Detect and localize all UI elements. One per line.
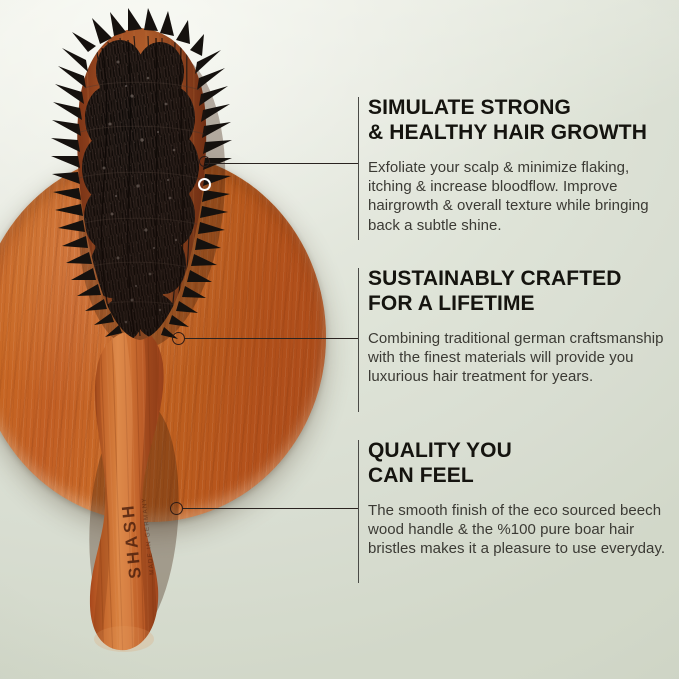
feature-heading-2-line1: SUSTAINABLY CRAFTED xyxy=(368,267,622,290)
infographic-canvas: SHASH MADE IN GERMANY xyxy=(0,0,679,679)
feature-heading-2-line2: FOR A LIFETIME xyxy=(368,292,668,317)
feature-body-3: The smooth finish of the eco sourced bee… xyxy=(368,501,668,559)
feature-body-1: Exfoliate your scalp & minimize flaking,… xyxy=(368,158,668,235)
section-rule-2 xyxy=(358,268,359,412)
marker-ring-1 xyxy=(198,178,211,191)
feature-heading-2: SUSTAINABLY CRAFTED FOR A LIFETIME xyxy=(368,267,668,316)
feature-heading-3: QUALITY YOU CAN FEEL xyxy=(368,439,668,488)
feature-block-2: SUSTAINABLY CRAFTED FOR A LIFETIME Combi… xyxy=(368,267,668,387)
marker-ring-1b xyxy=(199,156,210,167)
feature-heading-1-line1: SIMULATE STRONG xyxy=(368,96,571,119)
section-rule-3 xyxy=(358,440,359,583)
marker-ring-3 xyxy=(170,502,183,515)
feature-heading-1: SIMULATE STRONG & HEALTHY HAIR GROWTH xyxy=(368,96,668,145)
leader-line-1 xyxy=(205,163,359,164)
feature-body-2: Combining traditional german craftsmansh… xyxy=(368,329,668,387)
wooden-board xyxy=(0,152,326,522)
section-rule-1 xyxy=(358,97,359,240)
leader-line-2 xyxy=(184,338,359,339)
leader-line-3 xyxy=(183,508,359,509)
feature-heading-3-line2: CAN FEEL xyxy=(368,464,668,489)
feature-heading-3-line1: QUALITY YOU xyxy=(368,439,512,462)
feature-heading-1-line2: & HEALTHY HAIR GROWTH xyxy=(368,121,668,146)
feature-block-1: SIMULATE STRONG & HEALTHY HAIR GROWTH Ex… xyxy=(368,96,668,235)
marker-ring-2 xyxy=(172,332,185,345)
feature-block-3: QUALITY YOU CAN FEEL The smooth finish o… xyxy=(368,439,668,559)
